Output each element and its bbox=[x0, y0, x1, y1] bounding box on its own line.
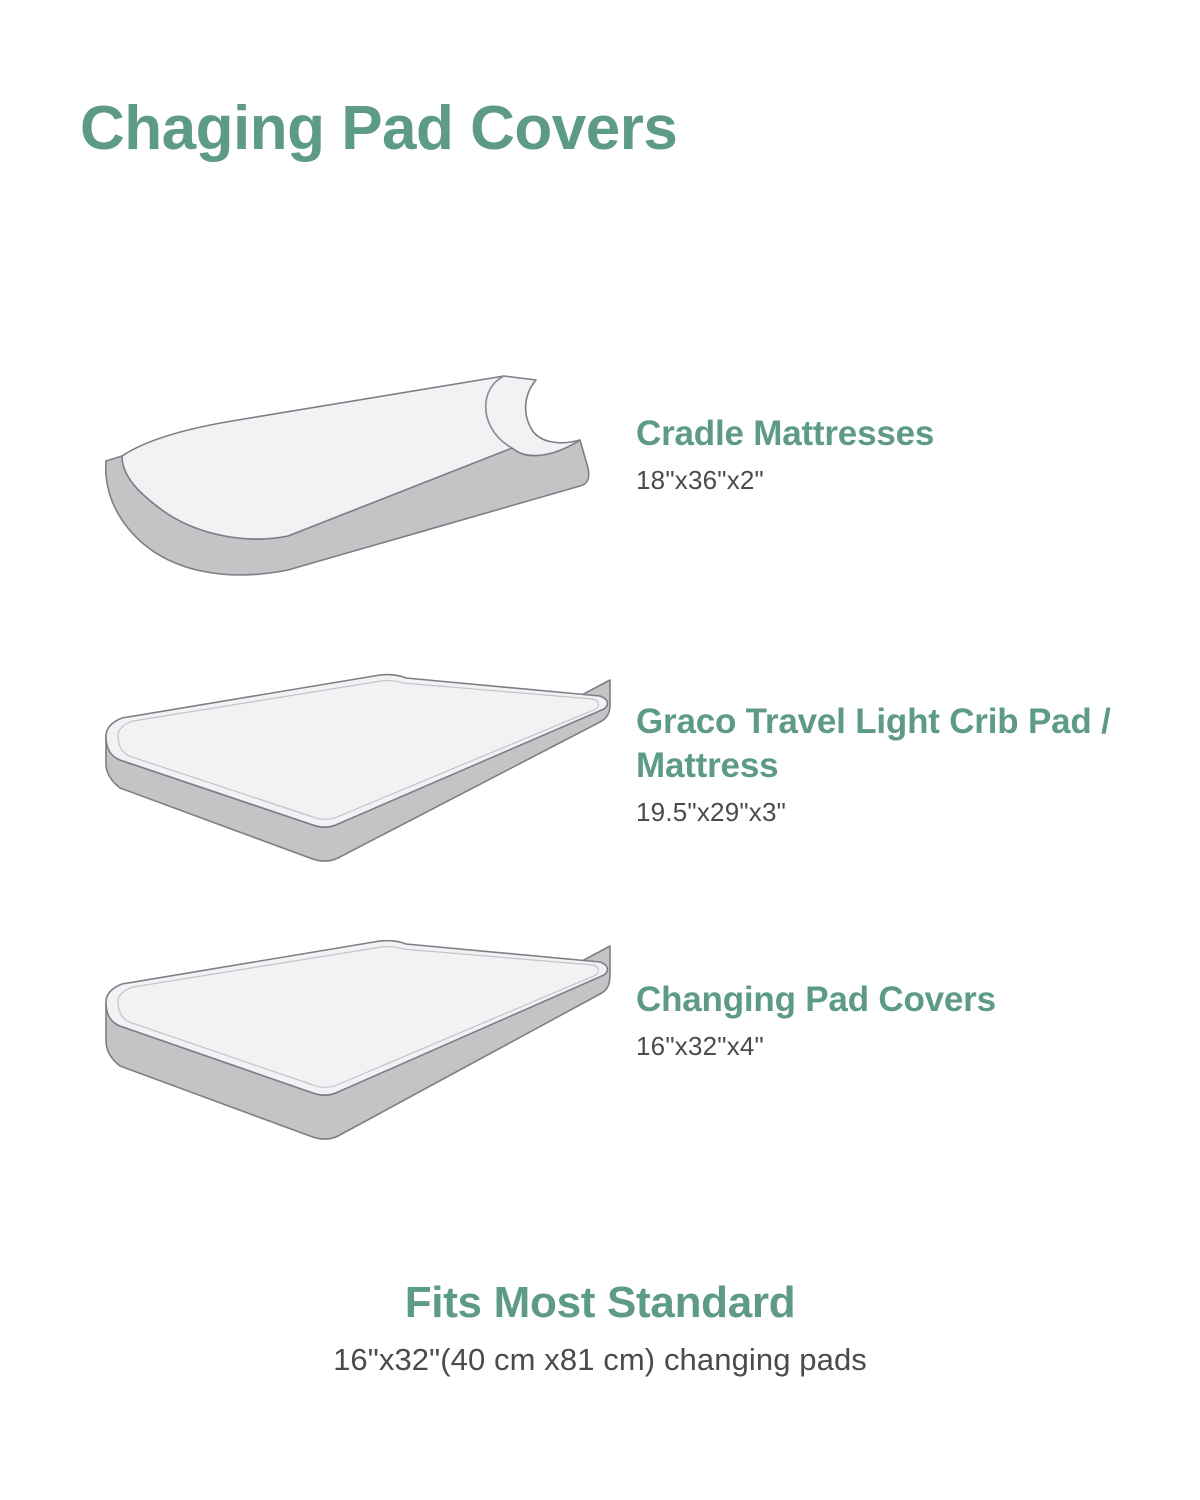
product-name: Changing Pad Covers bbox=[636, 978, 1156, 1022]
product-name: Graco Travel Light Crib Pad / Mattress bbox=[636, 700, 1156, 788]
thick-mattress-illustration bbox=[88, 940, 618, 1155]
product-dimensions: 19.5"x29"x3" bbox=[636, 796, 1156, 830]
product-label-block: Graco Travel Light Crib Pad / Mattress 1… bbox=[636, 700, 1156, 829]
page-title: Chaging Pad Covers bbox=[80, 96, 677, 161]
product-row-cradle-mattresses: Cradle Mattresses 18"x36"x2" bbox=[0, 368, 1200, 598]
product-label-block: Cradle Mattresses 18"x36"x2" bbox=[636, 412, 1156, 498]
product-name: Cradle Mattresses bbox=[636, 412, 1156, 456]
footer-subtext: 16"x32"(40 cm x81 cm) changing pads bbox=[0, 1341, 1200, 1378]
contoured-changing-pad-illustration bbox=[88, 368, 608, 603]
thin-mattress-illustration bbox=[88, 672, 618, 877]
product-row-graco-travel-light-crib-pad: Graco Travel Light Crib Pad / Mattress 1… bbox=[0, 672, 1200, 882]
product-dimensions: 18"x36"x2" bbox=[636, 464, 1156, 498]
product-info-graphic: Chaging Pad Covers Cradle Mattresses 18"… bbox=[0, 0, 1200, 1500]
product-label-block: Changing Pad Covers 16"x32"x4" bbox=[636, 978, 1156, 1064]
footer-heading: Fits Most Standard bbox=[0, 1278, 1200, 1329]
product-dimensions: 16"x32"x4" bbox=[636, 1030, 1156, 1064]
product-row-changing-pad-covers: Changing Pad Covers 16"x32"x4" bbox=[0, 940, 1200, 1160]
footer-block: Fits Most Standard 16"x32"(40 cm x81 cm)… bbox=[0, 1278, 1200, 1378]
